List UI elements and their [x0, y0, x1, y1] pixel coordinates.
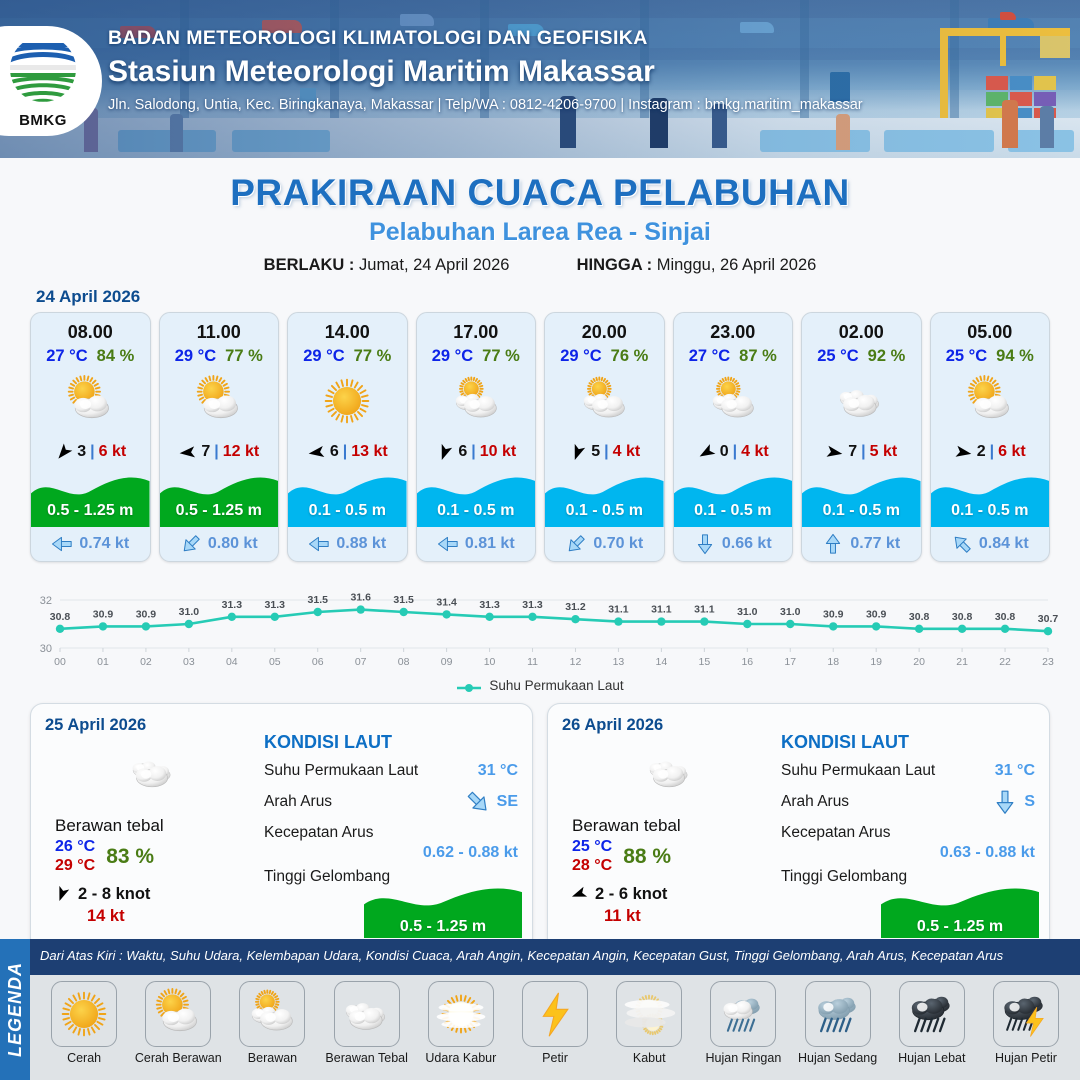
- card-current: 0.84 kt: [931, 527, 1050, 561]
- panel-wind: 2 - 8 knot: [45, 885, 260, 904]
- legend-icons-strip: Cerah Cerah Berawan: [30, 975, 1080, 1080]
- svg-text:01: 01: [97, 656, 109, 668]
- card-current: 0.70 kt: [545, 527, 664, 561]
- wind-direction-arrow-icon: [954, 443, 973, 462]
- card-temperature: 29 °C: [560, 347, 601, 366]
- current-direction-value: S: [1024, 793, 1035, 811]
- berawan-tebal-icon: [562, 741, 777, 803]
- card-humidity: 94 %: [996, 347, 1034, 366]
- legend-item-label: Cerah: [67, 1051, 101, 1065]
- card-wind-separator: |: [90, 443, 94, 461]
- current-speed-value: 0.63 - 0.88 kt: [781, 844, 1035, 862]
- panel-humidity: 88 %: [623, 845, 671, 869]
- card-time: 20.00: [545, 313, 664, 343]
- card-current-speed: 0.77 kt: [850, 535, 900, 553]
- svg-text:31.6: 31.6: [350, 592, 371, 604]
- berawan-icon: [239, 981, 305, 1047]
- current-direction-value: SE: [497, 793, 518, 811]
- sea-row-current-speed: Kecepatan Arus 0.62 - 0.88 kt: [264, 824, 518, 862]
- wind-direction-arrow-icon: [435, 443, 454, 462]
- panel-wind-range: 2 - 8 knot: [78, 885, 150, 904]
- bmkg-logo-text: BMKG: [1, 112, 85, 129]
- legend-item: Hujan Petir: [980, 981, 1072, 1065]
- card-current-speed: 0.74 kt: [79, 535, 129, 553]
- legend-item-label: Kabut: [633, 1051, 666, 1065]
- station-address: Jln. Salodong, Untia, Kec. Biringkanaya,…: [108, 97, 863, 113]
- legend-item-label: Hujan Lebat: [898, 1051, 965, 1065]
- svg-text:31.3: 31.3: [222, 599, 243, 611]
- card-wave-height: 0.1 - 0.5 m: [802, 502, 921, 520]
- current-direction-arrow-icon: [180, 533, 202, 555]
- cerah-berawan-icon: [145, 981, 211, 1047]
- card-gust-speed: 10 kt: [480, 443, 516, 461]
- forecast-card: 17.00 29 °C 77 % 6: [416, 312, 537, 562]
- current-direction-label: Arah Arus: [781, 793, 849, 811]
- svg-text:06: 06: [312, 656, 324, 668]
- legend-item: Cerah Berawan: [132, 981, 224, 1065]
- valid-until-value: Minggu, 26 April 2026: [657, 256, 817, 274]
- card-wind-direction: 7: [848, 443, 857, 461]
- panel-right: KONDISI LAUT Suhu Permukaan Laut 31 °C A…: [260, 716, 518, 940]
- cerah-berawan-icon: [31, 370, 150, 432]
- svg-text:21: 21: [956, 656, 968, 668]
- card-wave-height: 0.1 - 0.5 m: [931, 502, 1050, 520]
- card-wind-direction: 6: [330, 443, 339, 461]
- card-current-speed: 0.80 kt: [208, 535, 258, 553]
- current-direction-label: Arah Arus: [264, 793, 332, 811]
- current-direction-arrow-icon: [951, 533, 973, 555]
- svg-text:31.4: 31.4: [436, 596, 457, 608]
- card-wind-direction: 6: [458, 443, 467, 461]
- forecast-card: 02.00 25 °C 92 %: [801, 312, 922, 562]
- card-gust-speed: 4 kt: [613, 443, 641, 461]
- svg-text:30.9: 30.9: [823, 608, 844, 620]
- card-temperature: 29 °C: [303, 347, 344, 366]
- card-current-speed: 0.84 kt: [979, 535, 1029, 553]
- wind-direction-arrow-icon: [54, 443, 73, 462]
- sea-row-current-dir: Arah Arus S: [781, 789, 1035, 815]
- current-direction-arrow-icon: [51, 533, 73, 555]
- card-humidity: 76 %: [611, 347, 649, 366]
- berawan-icon: [545, 370, 664, 432]
- berawan-tebal-icon: [45, 741, 260, 803]
- card-wind: 6 | 10 kt: [417, 439, 536, 465]
- wind-direction-arrow-icon: [568, 443, 587, 462]
- current-speed-label: Kecepatan Arus: [264, 824, 518, 842]
- panel-date: 26 April 2026: [562, 716, 777, 735]
- cerah-icon: [51, 981, 117, 1047]
- svg-text:17: 17: [784, 656, 796, 668]
- legend-item: Kabut: [603, 981, 695, 1065]
- current-direction-arrow-icon: [565, 533, 587, 555]
- svg-text:05: 05: [269, 656, 281, 668]
- card-temperature: 29 °C: [175, 347, 216, 366]
- svg-text:11: 11: [527, 656, 538, 668]
- panel-condition: Berawan tebal: [562, 816, 777, 836]
- panel-wind: 2 - 6 knot: [562, 885, 777, 904]
- card-wind: 0 | 4 kt: [674, 439, 793, 465]
- panel-temperatures: 25 °C 28 °C 88 %: [562, 838, 777, 876]
- berawan-tebal-icon: [802, 370, 921, 432]
- svg-text:08: 08: [398, 656, 410, 668]
- svg-text:31.5: 31.5: [393, 594, 414, 606]
- svg-text:07: 07: [355, 656, 367, 668]
- card-wind: 7 | 5 kt: [802, 439, 921, 465]
- card-wave-block: 0.1 - 0.5 m: [802, 471, 921, 527]
- svg-text:30.8: 30.8: [995, 611, 1016, 623]
- legend-item: Cerah: [38, 981, 130, 1065]
- sst-label: Suhu Permukaan Laut: [781, 762, 935, 780]
- sea-row-current-dir: Arah Arus SE: [264, 789, 518, 815]
- legend-item-label: Cerah Berawan: [135, 1051, 222, 1065]
- card-current-speed: 0.81 kt: [465, 535, 515, 553]
- legend-item-label: Hujan Ringan: [706, 1051, 782, 1065]
- card-temp-humidity: 25 °C 92 %: [802, 347, 921, 366]
- legend-item-label: Udara Kabur: [425, 1051, 496, 1065]
- udara-kabur-icon: [428, 981, 494, 1047]
- card-current: 0.77 kt: [802, 527, 921, 561]
- current-direction-arrow-icon: [992, 789, 1018, 815]
- card-wave-block: 0.5 - 1.25 m: [160, 471, 279, 527]
- legend-item-label: Hujan Petir: [995, 1051, 1057, 1065]
- current-speed-label: Kecepatan Arus: [781, 824, 1035, 842]
- panel-wave-height: 0.5 - 1.25 m: [364, 918, 522, 936]
- forecast-card: 14.00 29 °C 77 % 6 | 13 kt: [287, 312, 408, 562]
- hujan-sedang-icon: [805, 981, 871, 1047]
- card-wind-direction: 5: [591, 443, 600, 461]
- svg-text:31.3: 31.3: [479, 599, 500, 611]
- panel-left: 25 April 2026 Berawan tebal: [45, 716, 260, 940]
- svg-text:00: 00: [54, 656, 66, 668]
- card-temp-humidity: 25 °C 94 %: [931, 347, 1050, 366]
- svg-text:03: 03: [183, 656, 195, 668]
- hujan-lebat-icon: [899, 981, 965, 1047]
- valid-until-label: HINGGA :: [577, 256, 652, 274]
- card-gust-speed: 6 kt: [99, 443, 127, 461]
- panel-temp-max: 29 °C: [55, 857, 95, 876]
- card-wind-separator: |: [861, 443, 865, 461]
- panel-right: KONDISI LAUT Suhu Permukaan Laut 31 °C A…: [777, 716, 1035, 940]
- card-wave-block: 0.5 - 1.25 m: [31, 471, 150, 527]
- card-temperature: 27 °C: [46, 347, 87, 366]
- svg-text:31.0: 31.0: [780, 606, 801, 618]
- station-name: Stasiun Meteorologi Maritim Makassar: [108, 55, 863, 89]
- sst-label: Suhu Permukaan Laut: [264, 762, 418, 780]
- svg-text:32: 32: [40, 595, 52, 607]
- card-time: 23.00: [674, 313, 793, 343]
- svg-text:30.7: 30.7: [1038, 613, 1058, 625]
- card-wave-height: 0.1 - 0.5 m: [545, 502, 664, 520]
- card-wave-block: 0.1 - 0.5 m: [674, 471, 793, 527]
- page-title: PRAKIRAAN CUACA PELABUHAN: [0, 172, 1080, 214]
- svg-text:30.8: 30.8: [50, 611, 71, 623]
- sst-chart-svg: 3032000102030405060708091011121314151617…: [22, 574, 1058, 674]
- sst-legend-marker: [456, 681, 482, 691]
- title-block: PRAKIRAAN CUACA PELABUHAN Pelabuhan Lare…: [0, 172, 1080, 275]
- card-wave-block: 0.1 - 0.5 m: [545, 471, 664, 527]
- validity-period: BERLAKU : Jumat, 24 April 2026 HINGGA : …: [0, 256, 1080, 275]
- card-wave-height: 0.5 - 1.25 m: [160, 502, 279, 520]
- svg-text:30.9: 30.9: [93, 608, 114, 620]
- svg-text:30.8: 30.8: [952, 611, 973, 623]
- card-temperature: 25 °C: [946, 347, 987, 366]
- panel-wave-block: 0.5 - 1.25 m: [364, 882, 522, 944]
- card-wind-separator: |: [733, 443, 737, 461]
- agency-name: BADAN METEOROLOGI KLIMATOLOGI DAN GEOFIS…: [108, 27, 863, 50]
- card-temp-humidity: 29 °C 76 %: [545, 347, 664, 366]
- panel-gust: 14 kt: [45, 907, 260, 926]
- legend-item: Hujan Ringan: [697, 981, 789, 1065]
- sea-row-sst: Suhu Permukaan Laut 31 °C: [781, 762, 1035, 780]
- daily-forecast-panel: 26 April 2026 Berawan tebal: [547, 703, 1050, 951]
- current-direction-arrow-icon: [437, 533, 459, 555]
- sst-value: 31 °C: [478, 762, 518, 780]
- svg-text:31.3: 31.3: [522, 599, 543, 611]
- card-humidity: 77 %: [225, 347, 263, 366]
- panel-humidity: 83 %: [106, 845, 154, 869]
- card-gust-speed: 5 kt: [870, 443, 898, 461]
- svg-text:15: 15: [699, 656, 711, 668]
- cerah-berawan-icon: [160, 370, 279, 432]
- svg-text:16: 16: [741, 656, 753, 668]
- card-temp-humidity: 29 °C 77 %: [160, 347, 279, 366]
- card-humidity: 77 %: [482, 347, 520, 366]
- card-temp-humidity: 29 °C 77 %: [417, 347, 536, 366]
- svg-text:10: 10: [484, 656, 496, 668]
- petir-icon: [522, 981, 588, 1047]
- valid-from-value: Jumat, 24 April 2026: [359, 256, 509, 274]
- svg-text:18: 18: [827, 656, 839, 668]
- hujan-petir-icon: [993, 981, 1059, 1047]
- card-wave-block: 0.1 - 0.5 m: [288, 471, 407, 527]
- panel-wave-height: 0.5 - 1.25 m: [881, 918, 1039, 936]
- svg-text:31.5: 31.5: [308, 594, 329, 606]
- svg-text:31.1: 31.1: [608, 604, 629, 616]
- svg-text:09: 09: [441, 656, 453, 668]
- panel-wave-block: 0.5 - 1.25 m: [881, 882, 1039, 944]
- card-humidity: 87 %: [739, 347, 777, 366]
- svg-text:13: 13: [613, 656, 625, 668]
- card-current: 0.81 kt: [417, 527, 536, 561]
- svg-text:12: 12: [570, 656, 582, 668]
- svg-text:19: 19: [870, 656, 882, 668]
- legend-item-label: Berawan: [248, 1051, 297, 1065]
- hourly-forecast-row: 08.00 27 °C 84 % 3 | 6 kt: [0, 312, 1080, 562]
- card-wind-direction: 3: [77, 443, 86, 461]
- cerah-icon: [288, 370, 407, 432]
- sst-value: 31 °C: [995, 762, 1035, 780]
- svg-text:30.9: 30.9: [136, 608, 157, 620]
- sea-row-current-speed: Kecepatan Arus 0.63 - 0.88 kt: [781, 824, 1035, 862]
- current-direction-arrow-icon: [465, 789, 491, 815]
- panel-temp-min: 25 °C: [572, 838, 612, 857]
- svg-text:31.2: 31.2: [565, 601, 586, 613]
- page-header: BMKG BADAN METEOROLOGI KLIMATOLOGI DAN G…: [0, 0, 1080, 158]
- card-wave-height: 0.1 - 0.5 m: [288, 502, 407, 520]
- berawan-icon: [674, 370, 793, 432]
- card-humidity: 77 %: [354, 347, 392, 366]
- card-wind-direction: 0: [720, 443, 729, 461]
- port-name: Pelabuhan Larea Rea - Sinjai: [0, 218, 1080, 247]
- bmkg-logo-icon: [7, 35, 79, 107]
- svg-text:30.9: 30.9: [866, 608, 887, 620]
- forecast-card: 11.00 29 °C 77 % 7 | 12 kt: [159, 312, 280, 562]
- svg-text:31.0: 31.0: [179, 606, 200, 618]
- card-temperature: 25 °C: [817, 347, 858, 366]
- panel-wind-range: 2 - 6 knot: [595, 885, 667, 904]
- legend-note: Dari Atas Kiri : Waktu, Suhu Udara, Kele…: [40, 948, 1003, 963]
- legend-item-label: Hujan Sedang: [798, 1051, 877, 1065]
- forecast-card: 23.00 27 °C 87 % 0: [673, 312, 794, 562]
- card-temperature: 27 °C: [689, 347, 730, 366]
- card-wind: 5 | 4 kt: [545, 439, 664, 465]
- legend-item: Hujan Lebat: [886, 981, 978, 1065]
- card-temp-humidity: 27 °C 87 %: [674, 347, 793, 366]
- valid-from-label: BERLAKU :: [264, 256, 355, 274]
- panel-temp-max: 28 °C: [572, 857, 612, 876]
- card-current-speed: 0.66 kt: [722, 535, 772, 553]
- card-wind-separator: |: [604, 443, 608, 461]
- current-direction-arrow-icon: [822, 533, 844, 555]
- legend-item: Petir: [509, 981, 601, 1065]
- card-time: 08.00: [31, 313, 150, 343]
- card-current-speed: 0.88 kt: [336, 535, 386, 553]
- sea-row-sst: Suhu Permukaan Laut 31 °C: [264, 762, 518, 780]
- card-current: 0.74 kt: [31, 527, 150, 561]
- card-temp-humidity: 27 °C 84 %: [31, 347, 150, 366]
- wind-direction-arrow-icon: [570, 885, 588, 903]
- card-wind: 2 | 6 kt: [931, 439, 1050, 465]
- card-wind: 3 | 6 kt: [31, 439, 150, 465]
- card-wave-height: 0.1 - 0.5 m: [417, 502, 536, 520]
- forecast-card: 20.00 29 °C 76 % 5: [544, 312, 665, 562]
- card-wind-separator: |: [990, 443, 994, 461]
- legend-item: Hujan Sedang: [792, 981, 884, 1065]
- card-wave-block: 0.1 - 0.5 m: [417, 471, 536, 527]
- card-time: 05.00: [931, 313, 1050, 343]
- wind-direction-arrow-icon: [697, 443, 716, 462]
- wind-direction-arrow-icon: [178, 443, 197, 462]
- card-wave-height: 0.5 - 1.25 m: [31, 502, 150, 520]
- sst-legend-label: Suhu Permukaan Laut: [489, 678, 623, 693]
- svg-text:23: 23: [1042, 656, 1054, 668]
- card-wind: 6 | 13 kt: [288, 439, 407, 465]
- forecast-card: 08.00 27 °C 84 % 3 | 6 kt: [30, 312, 151, 562]
- forecast-card: 05.00 25 °C 94 % 2 | 6 kt: [930, 312, 1051, 562]
- card-wind: 7 | 12 kt: [160, 439, 279, 465]
- svg-text:31.0: 31.0: [737, 606, 758, 618]
- legend-item-label: Petir: [542, 1051, 568, 1065]
- svg-text:31.1: 31.1: [694, 604, 715, 616]
- legend-item-label: Berawan Tebal: [325, 1051, 407, 1065]
- card-wind-separator: |: [343, 443, 347, 461]
- sea-condition-title: KONDISI LAUT: [781, 732, 1035, 753]
- cerah-berawan-icon: [931, 370, 1050, 432]
- svg-text:22: 22: [999, 656, 1011, 668]
- panel-temperatures: 26 °C 29 °C 83 %: [45, 838, 260, 876]
- svg-text:14: 14: [656, 656, 668, 668]
- panel-condition: Berawan tebal: [45, 816, 260, 836]
- card-gust-speed: 12 kt: [223, 443, 259, 461]
- panel-left: 26 April 2026 Berawan tebal: [562, 716, 777, 940]
- sst-chart-legend: Suhu Permukaan Laut: [0, 678, 1080, 693]
- wind-direction-arrow-icon: [307, 443, 326, 462]
- svg-text:30: 30: [40, 643, 52, 655]
- card-time: 11.00: [160, 313, 279, 343]
- legend-item: Berawan Tebal: [321, 981, 413, 1065]
- legend-tab-label: LEGENDA: [5, 962, 26, 1057]
- card-current: 0.66 kt: [674, 527, 793, 561]
- wind-direction-arrow-icon: [53, 885, 71, 903]
- sst-chart: 3032000102030405060708091011121314151617…: [22, 574, 1058, 674]
- sea-condition-title: KONDISI LAUT: [264, 732, 518, 753]
- card-temperature: 29 °C: [432, 347, 473, 366]
- panel-temp-min: 26 °C: [55, 838, 95, 857]
- card-gust-speed: 6 kt: [998, 443, 1026, 461]
- svg-text:31.1: 31.1: [651, 604, 672, 616]
- card-wind-separator: |: [214, 443, 218, 461]
- wind-direction-arrow-icon: [825, 443, 844, 462]
- card-gust-speed: 13 kt: [351, 443, 387, 461]
- legend-item: Berawan: [226, 981, 318, 1065]
- legend-tab: LEGENDA: [0, 939, 30, 1080]
- legend-section: LEGENDA Dari Atas Kiri : Waktu, Suhu Uda…: [0, 939, 1080, 1080]
- svg-text:30.8: 30.8: [909, 611, 930, 623]
- panel-gust: 11 kt: [562, 907, 777, 926]
- current-direction-arrow-icon: [694, 533, 716, 555]
- card-wave-block: 0.1 - 0.5 m: [931, 471, 1050, 527]
- card-humidity: 84 %: [97, 347, 135, 366]
- daily-forecast-panels: 25 April 2026 Berawan tebal: [0, 693, 1080, 951]
- card-current: 0.80 kt: [160, 527, 279, 561]
- card-temp-humidity: 29 °C 77 %: [288, 347, 407, 366]
- current-speed-value: 0.62 - 0.88 kt: [264, 844, 518, 862]
- svg-text:04: 04: [226, 656, 238, 668]
- kabut-icon: [616, 981, 682, 1047]
- panel-date: 25 April 2026: [45, 716, 260, 735]
- card-wave-height: 0.1 - 0.5 m: [674, 502, 793, 520]
- card-humidity: 92 %: [868, 347, 906, 366]
- card-gust-speed: 4 kt: [741, 443, 769, 461]
- legend-item: Udara Kabur: [415, 981, 507, 1065]
- svg-text:02: 02: [140, 656, 152, 668]
- daily-forecast-panel: 25 April 2026 Berawan tebal: [30, 703, 533, 951]
- berawan-tebal-icon: [334, 981, 400, 1047]
- card-time: 14.00: [288, 313, 407, 343]
- forecast-day-label: 24 April 2026: [36, 287, 1080, 307]
- card-wind-direction: 2: [977, 443, 986, 461]
- berawan-icon: [417, 370, 536, 432]
- card-current-speed: 0.70 kt: [593, 535, 643, 553]
- svg-text:20: 20: [913, 656, 925, 668]
- card-wind-direction: 7: [201, 443, 210, 461]
- current-direction-arrow-icon: [308, 533, 330, 555]
- card-time: 02.00: [802, 313, 921, 343]
- card-current: 0.88 kt: [288, 527, 407, 561]
- card-wind-separator: |: [471, 443, 475, 461]
- svg-text:31.3: 31.3: [265, 599, 286, 611]
- hujan-ringan-icon: [710, 981, 776, 1047]
- card-time: 17.00: [417, 313, 536, 343]
